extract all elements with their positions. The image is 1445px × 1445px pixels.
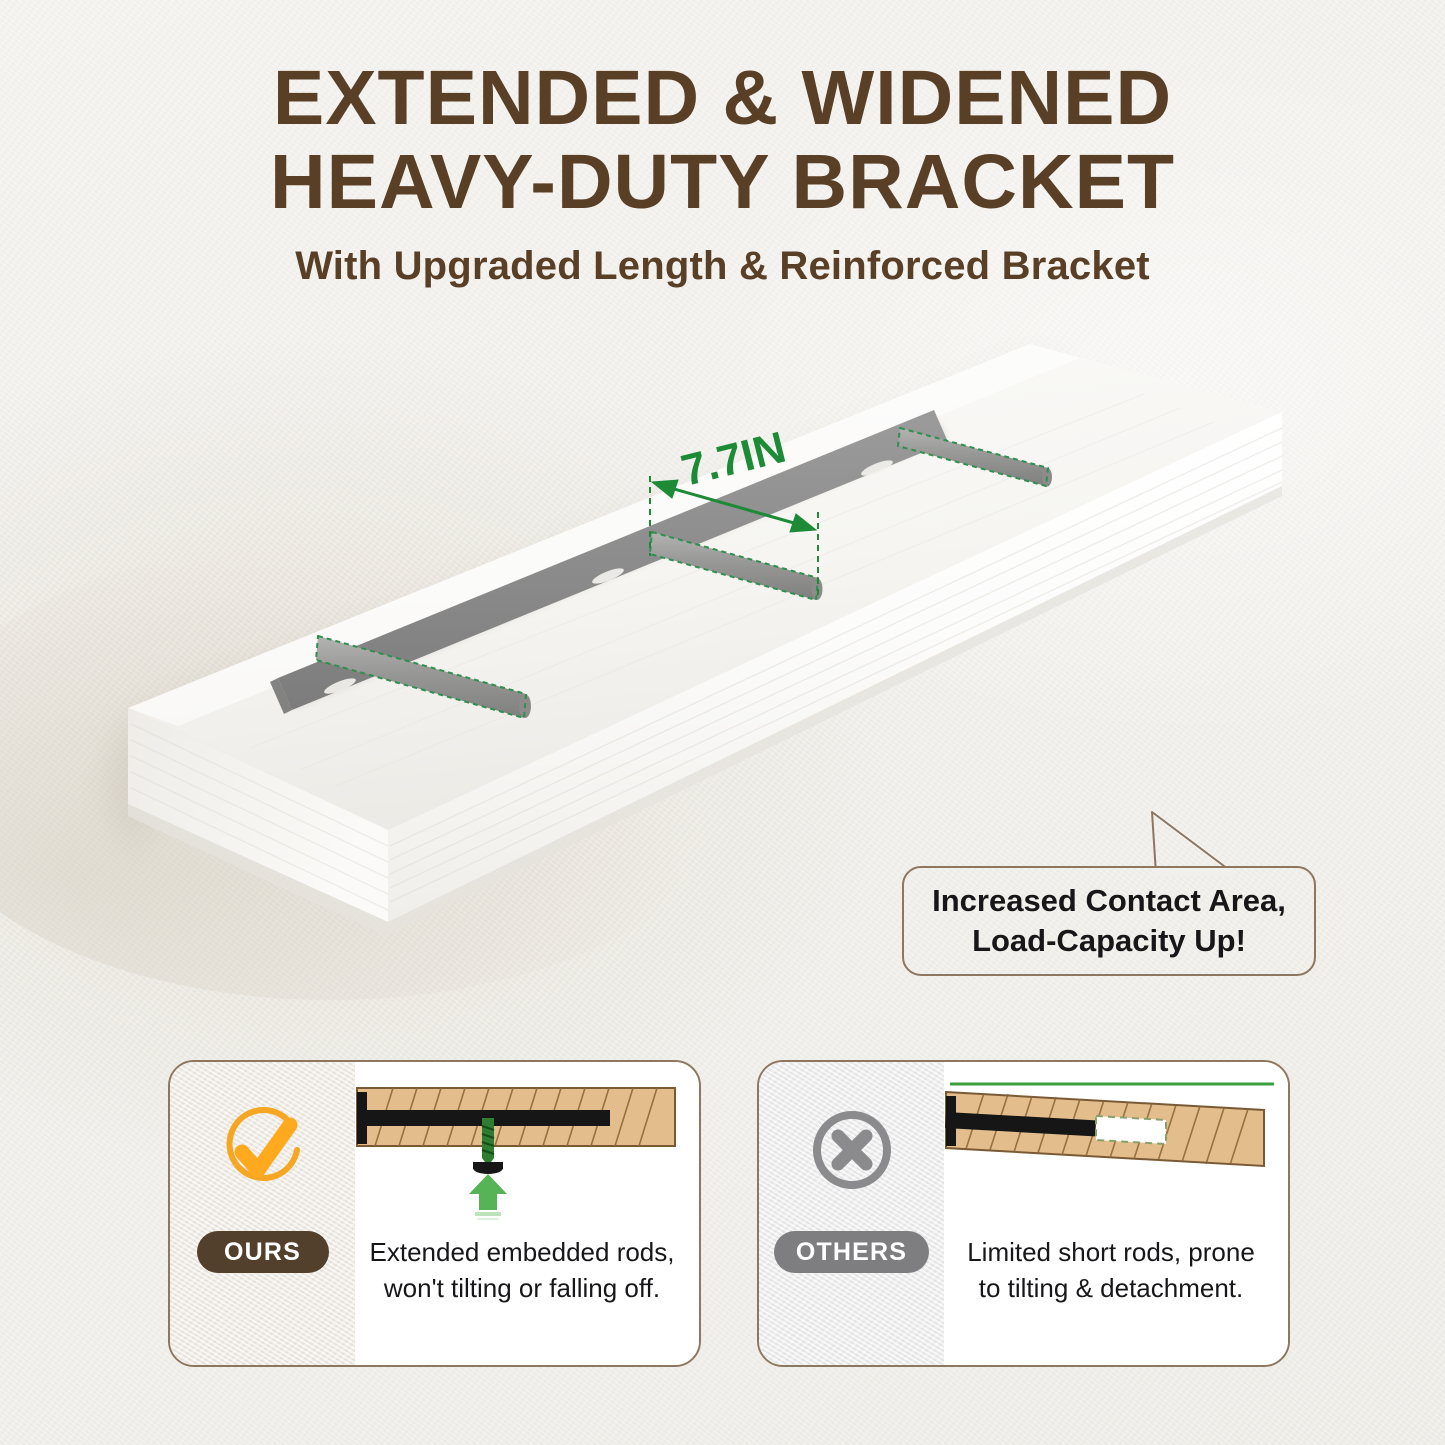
callout-line-1: Increased Contact Area, (932, 881, 1286, 921)
callout-bubble: Increased Contact Area, Load-Capacity Up… (902, 866, 1316, 976)
ours-rod-flange (357, 1092, 367, 1144)
others-caption: Limited short rods, prone to tilting & d… (944, 1234, 1278, 1306)
comparison-card-ours: OURS (168, 1060, 701, 1367)
ours-caption: Extended embedded rods, won't tilting or… (355, 1234, 689, 1306)
infographic-stage: EXTENDED & WIDENED HEAVY-DUTY BRACKET Wi… (0, 0, 1445, 1445)
headline-subtitle: With Upgraded Length & Reinforced Bracke… (0, 244, 1445, 289)
ours-force-arrow (469, 1174, 507, 1220)
callout-line-2: Load-Capacity Up! (972, 921, 1246, 961)
ours-badge: OURS (197, 1231, 329, 1273)
heading-block: EXTENDED & WIDENED HEAVY-DUTY BRACKET Wi… (0, 56, 1445, 289)
check-circle-icon (211, 1098, 315, 1207)
others-badge-column: OTHERS (759, 1062, 944, 1365)
headline-line-1: EXTENDED & WIDENED (0, 56, 1445, 140)
others-caption-line-2: to tilting & detachment. (944, 1270, 1278, 1306)
ours-badge-column: OURS (170, 1062, 355, 1365)
comparison-card-others: OTHERS (757, 1060, 1290, 1367)
others-card-body: Limited short rods, prone to tilting & d… (944, 1062, 1288, 1365)
others-illustration (944, 1070, 1290, 1220)
ours-illustration (355, 1070, 701, 1220)
others-rod-flange (946, 1096, 956, 1146)
headline-line-2: HEAVY-DUTY BRACKET (0, 140, 1445, 224)
others-badge: OTHERS (774, 1231, 929, 1273)
others-caption-line-1: Limited short rods, prone (944, 1234, 1278, 1270)
others-void (1096, 1116, 1166, 1144)
ours-caption-line-1: Extended embedded rods, (355, 1234, 689, 1270)
comparison-section: OURS (0, 1060, 1445, 1380)
x-circle-icon (800, 1098, 904, 1207)
ours-card-body: Extended embedded rods, won't tilting or… (355, 1062, 699, 1365)
ours-caption-line-2: won't tilting or falling off. (355, 1270, 689, 1306)
